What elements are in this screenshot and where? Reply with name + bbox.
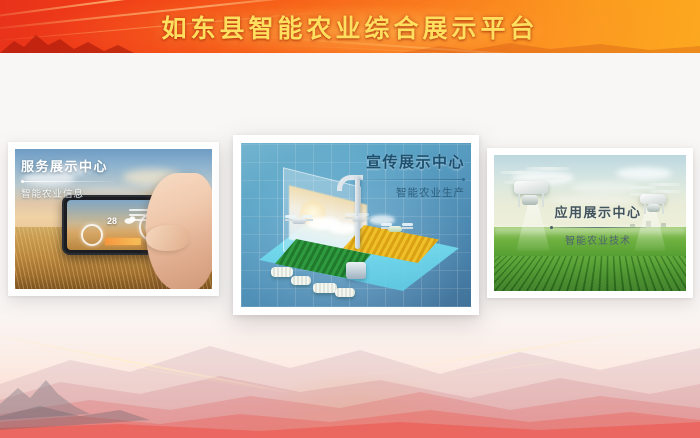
app-stage: 如东县智能农业综合展示平台 (0, 0, 700, 438)
cloud (329, 223, 357, 234)
caption-divider (21, 178, 113, 185)
card-application-subtitle: 智能农业技术 (550, 232, 646, 247)
hud-status-chip (105, 238, 141, 245)
card-application-caption: 应用展示中心 智能农业技术 (550, 202, 646, 247)
cloud (616, 167, 672, 180)
scenery-light-ray (392, 345, 669, 385)
scenery-sun-glow (238, 374, 478, 438)
drone-icon (345, 211, 369, 223)
hay-bale (313, 283, 337, 293)
hud-ring-left (81, 224, 103, 246)
card-service-caption: 服务展示中心 智能农业信息 (21, 156, 113, 200)
card-promotion-title: 宣传展示中心 (355, 151, 465, 172)
caption-divider (550, 224, 646, 231)
header-banner: 如东县智能农业综合展示平台 (0, 0, 700, 53)
drone-icon (285, 213, 313, 226)
weather-cloud-icon (124, 214, 137, 224)
hay-bale (335, 288, 355, 297)
card-promotion-display-center[interactable]: 宣传展示中心 智能农业生产 (233, 135, 479, 315)
divider-line (21, 181, 113, 182)
card-service-subtitle: 智能农业信息 (21, 186, 113, 200)
card-application-title: 应用展示中心 (550, 202, 646, 221)
hay-bale (271, 267, 293, 277)
hud-temperature-value: 28 (107, 216, 117, 226)
street-lamp-base (346, 262, 366, 279)
card-application-display-center[interactable]: 应用展示中心 智能农业技术 (487, 148, 693, 298)
page-title: 如东县智能农业综合展示平台 (0, 0, 700, 53)
card-service-title: 服务展示中心 (21, 156, 113, 175)
scenery-light-ray (0, 340, 276, 392)
drone-icon (381, 221, 413, 235)
card-promotion-caption: 宣传展示中心 智能农业生产 (355, 151, 465, 200)
divider-line (550, 227, 646, 228)
card-promotion-subtitle: 智能农业生产 (355, 185, 465, 200)
caption-divider (355, 176, 465, 183)
scenery-light-ray (0, 330, 302, 396)
scenery-light-ray (364, 326, 668, 376)
card-service-display-center[interactable]: 28 服务展示中心 智能农业信息 (8, 142, 219, 296)
hay-bale (291, 276, 311, 285)
divider-line (355, 179, 465, 180)
thumb-illustration (146, 225, 190, 251)
